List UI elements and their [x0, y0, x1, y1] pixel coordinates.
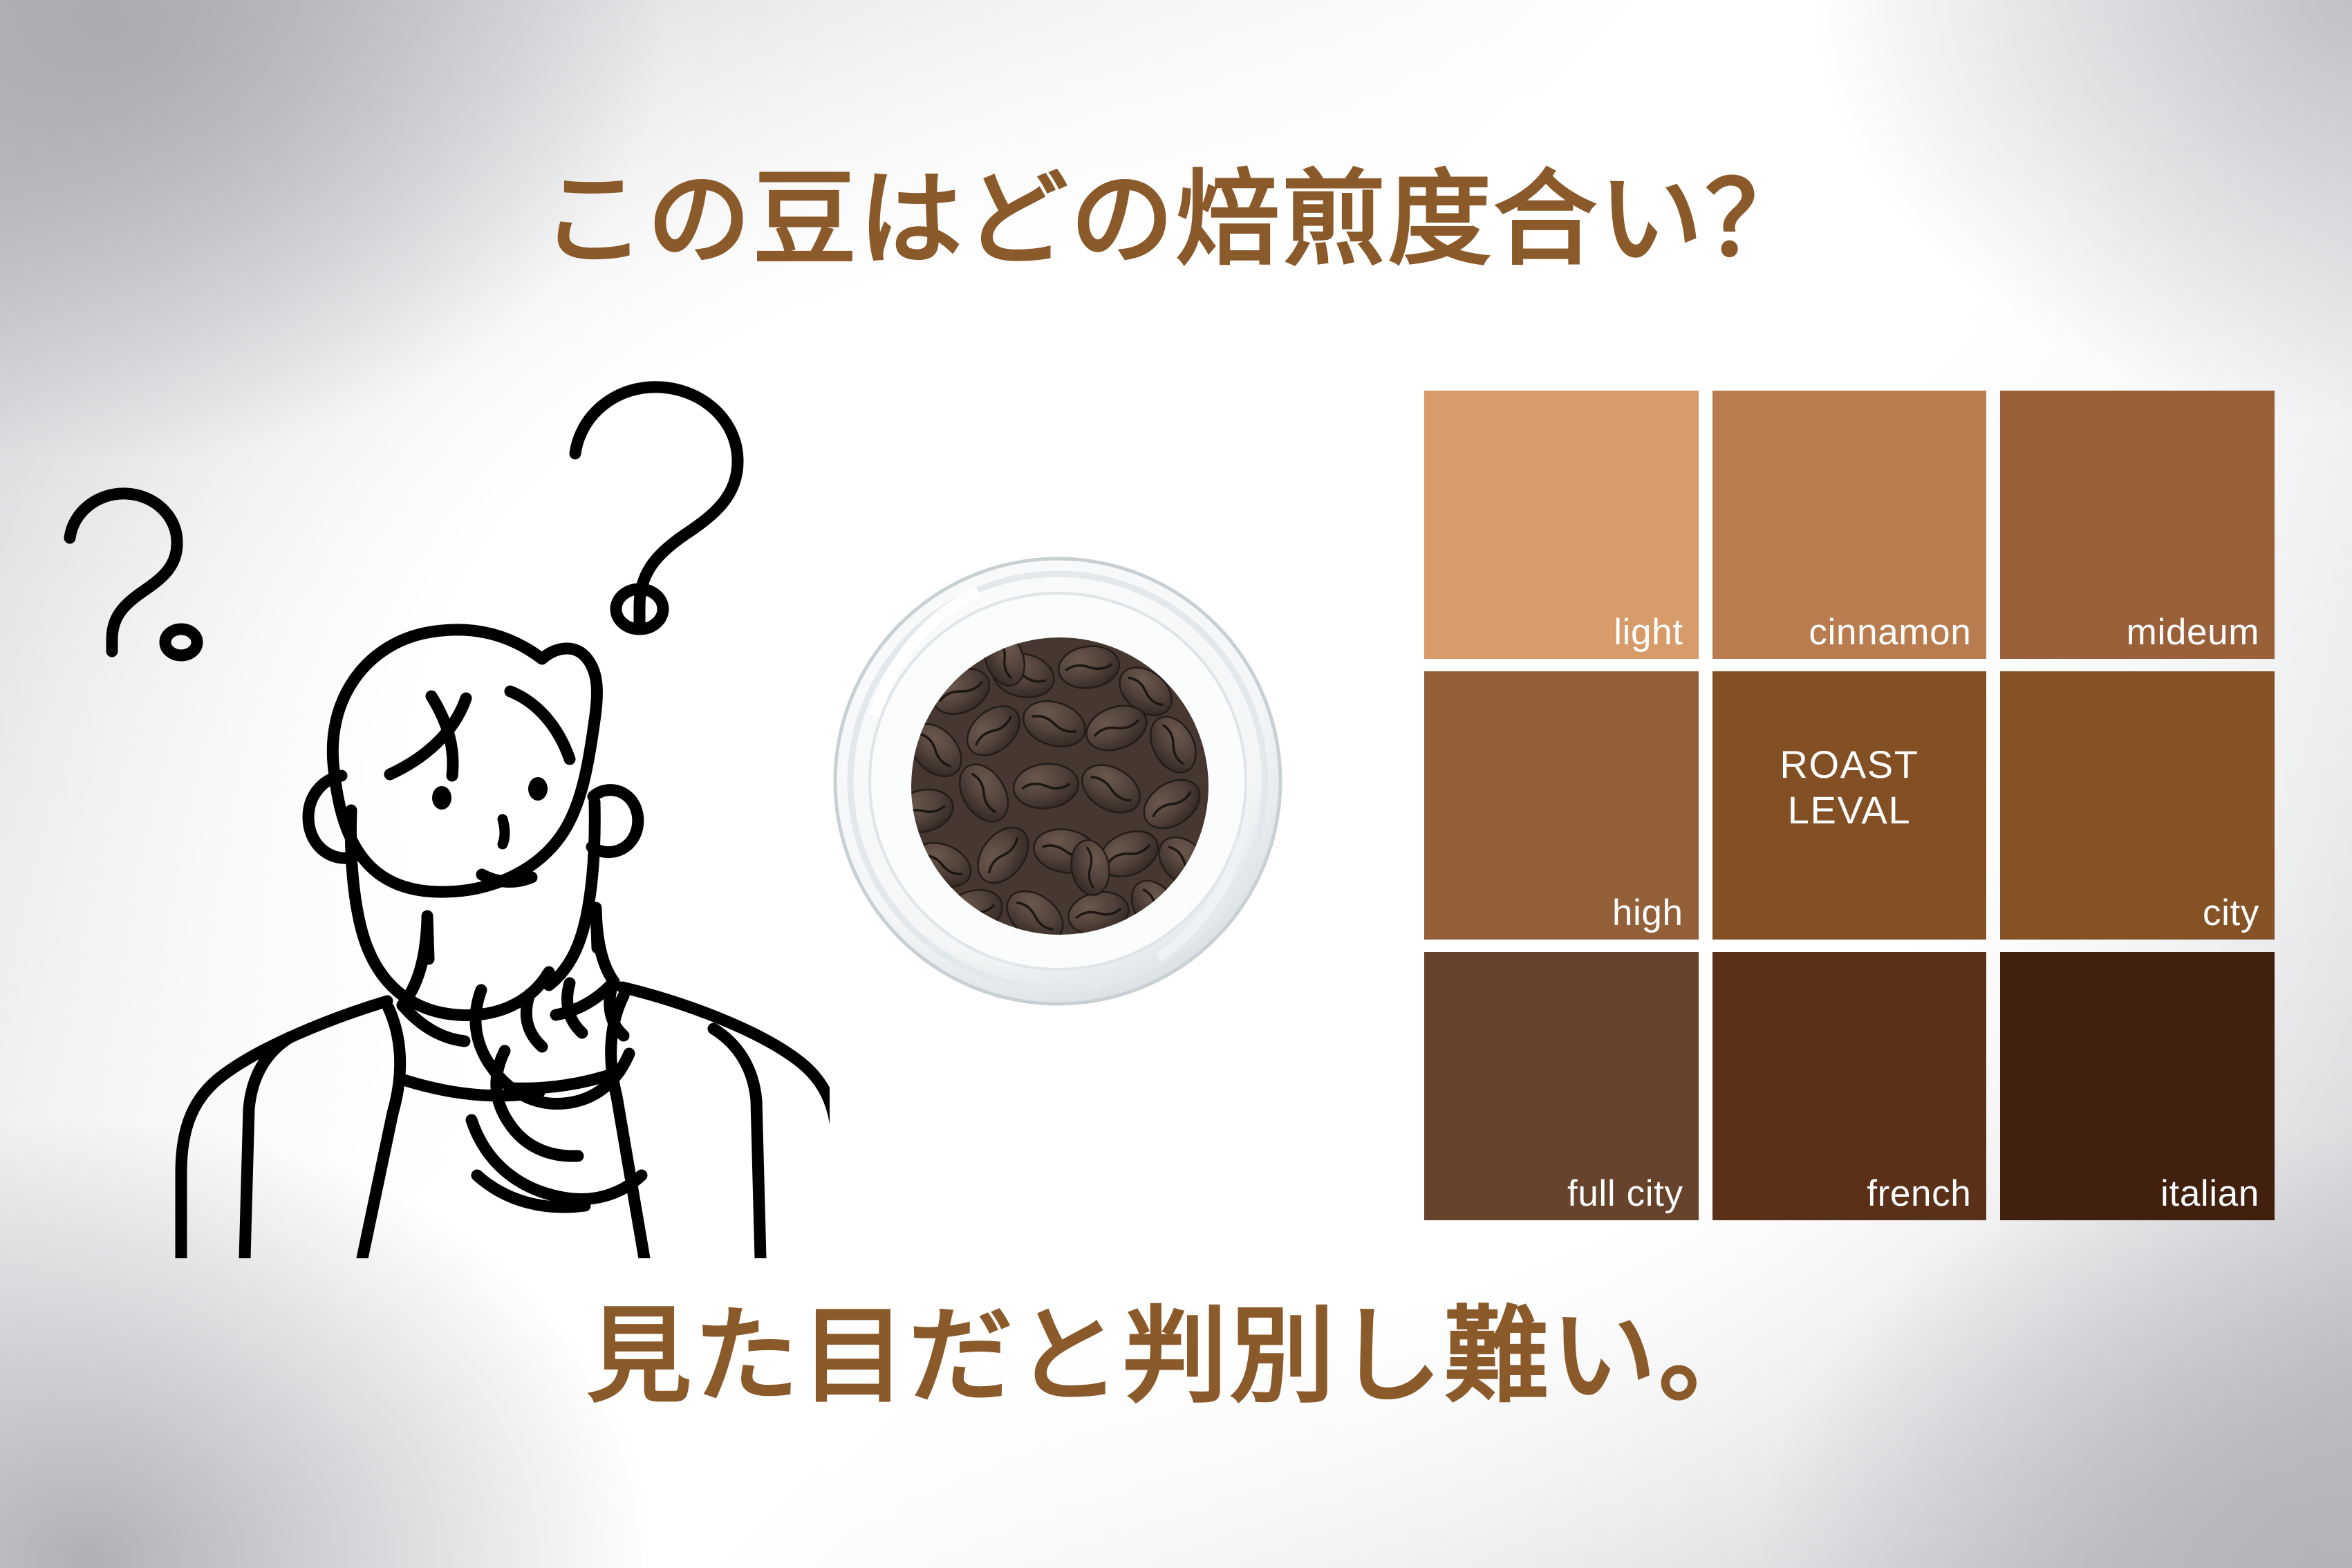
swatch-label-mideum: mideum — [2127, 611, 2259, 655]
question-mark-large-icon — [575, 387, 738, 629]
coffee-bean-bowl-photo — [819, 543, 1296, 1020]
page-title-bottom: 見た目だと判別し難い。 — [0, 1271, 2352, 1423]
swatch-label-french: french — [1867, 1173, 1971, 1216]
swatch-label-italian: italian — [2160, 1173, 2259, 1216]
thinking-person-illustration — [62, 360, 830, 1258]
swatch-cinnamon[interactable]: cinnamon — [1712, 391, 1987, 659]
roast-level-caption: ROAST LEVAL — [1780, 742, 1919, 833]
swatch-label-city: city — [2203, 892, 2259, 935]
roast-level-caption-line2: LEVAL — [1780, 787, 1919, 833]
swatch-high[interactable]: high — [1424, 671, 1699, 940]
swatch-label-light: light — [1614, 611, 1683, 655]
swatch-center-roast-level[interactable]: ROAST LEVAL — [1712, 671, 1987, 940]
question-mark-small-icon — [70, 494, 197, 655]
swatch-city[interactable]: city — [2000, 671, 2275, 940]
swatch-italian[interactable]: italian — [2000, 952, 2275, 1220]
swatch-french[interactable]: french — [1712, 952, 1987, 1220]
swatch-light[interactable]: light — [1424, 391, 1699, 659]
roast-level-caption-line1: ROAST — [1780, 742, 1919, 787]
swatch-label-cinnamon: cinnamon — [1809, 611, 1971, 655]
swatch-label-full-city: full city — [1567, 1173, 1683, 1216]
swatch-mideum[interactable]: mideum — [2000, 391, 2275, 659]
swatch-full-city[interactable]: full city — [1424, 952, 1699, 1220]
roast-level-swatch-grid: light cinnamon mideum high ROAST LEVAL c… — [1424, 391, 2275, 1220]
swatch-label-high: high — [1612, 892, 1683, 935]
page-title-top: この豆はどの焙煎度合い？ — [0, 136, 2352, 286]
person-head — [308, 630, 638, 1016]
